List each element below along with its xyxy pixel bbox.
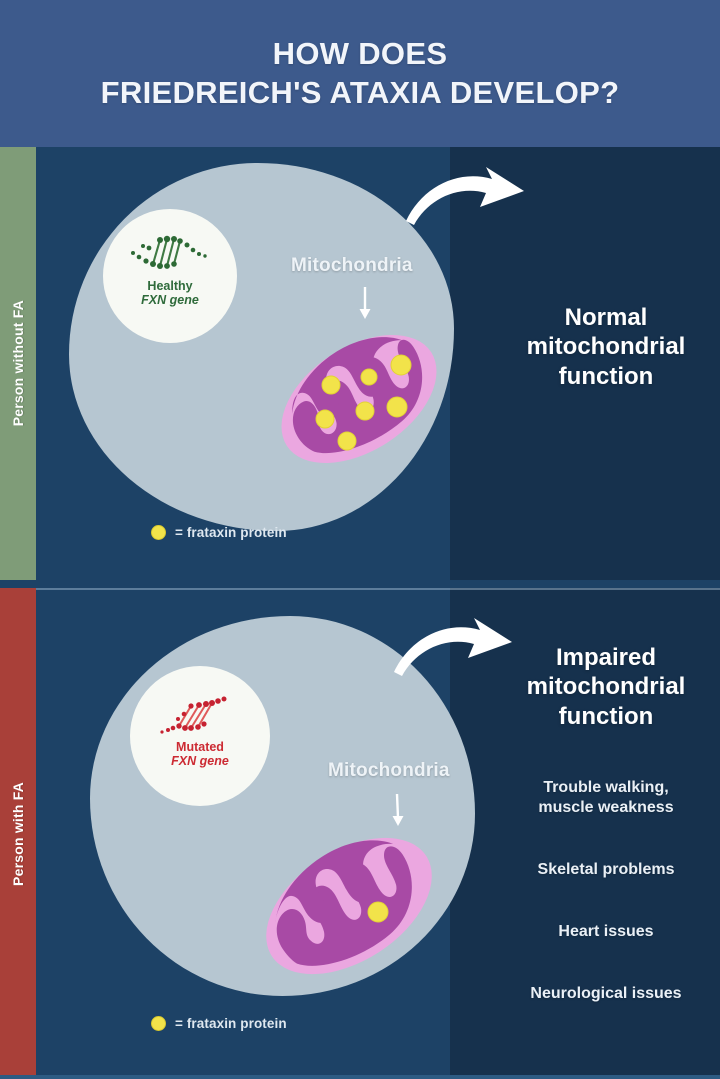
panel-divider [36, 588, 720, 590]
panel-disease: Person with FA [0, 588, 720, 1079]
dna-helix-mutated-icon [157, 692, 243, 736]
gene-label-disease: Mutated FXN gene [171, 740, 229, 769]
sidebar-label-person-without-fa: Person without FA [0, 147, 36, 580]
gene-label-line2: FXN gene [171, 754, 229, 768]
sidebar-label-text: Person with FA [10, 782, 26, 886]
gene-label-line1: Healthy [141, 279, 199, 293]
legend-text: = frataxin protein [175, 525, 287, 540]
curved-arrow-icon [406, 165, 526, 239]
mitochondria-label-healthy: Mitochondria [291, 255, 413, 277]
nucleus-disease: Mutated FXN gene [130, 666, 270, 806]
mitochondria-label-disease: Mitochondria [328, 760, 450, 782]
header-banner: HOW DOES FRIEDREICH'S ATAXIA DEVELOP? [0, 0, 720, 147]
stage-healthy: Healthy FXN gene Mitochondria [36, 147, 720, 580]
dna-helix-icon [127, 231, 213, 275]
symptom-item: Skeletal problems [466, 860, 720, 880]
legend-text: = frataxin protein [175, 1016, 287, 1031]
gene-label-line1: Mutated [171, 740, 229, 754]
bottom-edge [0, 1075, 720, 1079]
nucleus-healthy: Healthy FXN gene [103, 209, 237, 343]
mitochondrion-disease [250, 816, 448, 996]
cell-body-healthy: Healthy FXN gene Mitochondria [69, 163, 454, 531]
sidebar-label-text: Person without FA [10, 300, 26, 426]
page-title: HOW DOES FRIEDREICH'S ATAXIA DEVELOP? [101, 35, 620, 113]
panel-healthy: Person without FA [0, 147, 720, 580]
sidebar-label-person-with-fa: Person with FA [0, 588, 36, 1079]
mitochondrion-healthy [265, 315, 453, 483]
gene-label-healthy: Healthy FXN gene [141, 279, 199, 308]
symptom-item: Neurological issues [466, 984, 720, 1004]
result-heading-disease: Impaired mitochondrial function [466, 643, 720, 731]
legend-disease: = frataxin protein [151, 1016, 287, 1031]
symptom-item: Trouble walking, muscle weakness [466, 778, 720, 818]
gene-label-line2: FXN gene [141, 293, 199, 307]
symptom-item: Heart issues [466, 922, 720, 942]
stage-disease: Mutated FXN gene Mitochondria [36, 588, 720, 1079]
legend-healthy: = frataxin protein [151, 525, 287, 540]
frataxin-dot-icon [151, 525, 166, 540]
frataxin-dot-icon [151, 1016, 166, 1031]
symptom-list: Trouble walking, muscle weakness Skeleta… [466, 778, 720, 1046]
result-heading-healthy: Normal mitochondrial function [466, 303, 720, 391]
